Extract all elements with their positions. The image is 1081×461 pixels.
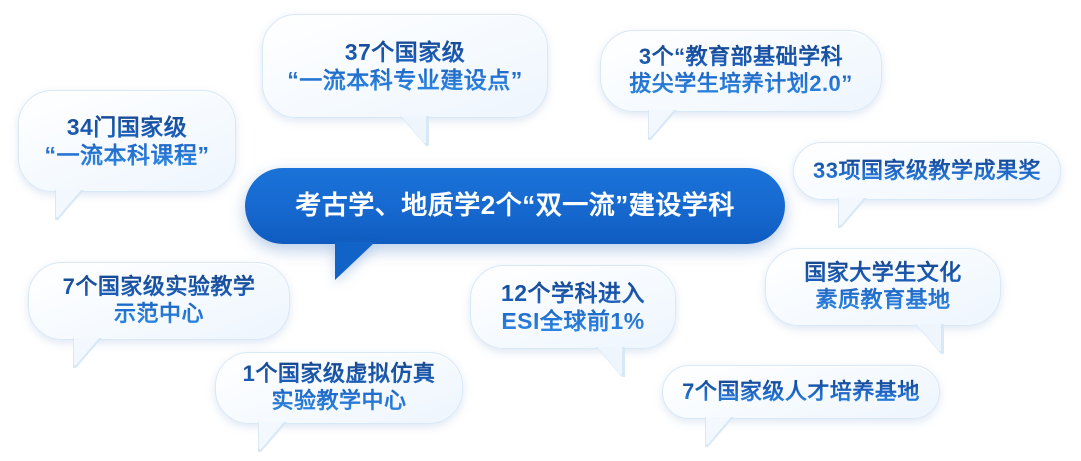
bubble-tail-esi-fill: [597, 347, 622, 374]
hero-label: 考古学、地质学2个“双一流”建设学科: [245, 190, 785, 222]
bubble-label: 国家大学生文化 素质教育基地: [766, 260, 1000, 314]
bubble-first-class-majors[interactable]: 37个国家级 “一流本科专业建设点”: [262, 14, 548, 118]
bubble-tail-majors-fill: [401, 116, 426, 143]
bubble-virtual-simulation-center[interactable]: 1个国家级虚拟仿真 实验教学中心: [215, 352, 463, 424]
bubble-label: 3个“教育部基础学科 拔尖学生培养计划2.0”: [601, 44, 881, 98]
bubble-label: 7个国家级人才培养基地: [663, 379, 939, 406]
bubble-teaching-achievement-awards[interactable]: 33项国家级教学成果奖: [793, 142, 1061, 200]
bubble-tail-talent-fill: [706, 417, 731, 444]
infographic-canvas: 34门国家级 “一流本科课程” 37个国家级 “一流本科专业建设点” 3个“教育…: [0, 0, 1081, 461]
bubble-experimental-teaching-centers[interactable]: 7个国家级实验教学 示范中心: [28, 262, 290, 340]
bubble-tail-program-fill: [649, 110, 674, 137]
bubble-talent-training-bases[interactable]: 7个国家级人才培养基地: [662, 365, 940, 419]
bubble-tail-hero: [335, 242, 375, 280]
bubble-label: 7个国家级实验教学 示范中心: [29, 274, 289, 328]
bubble-tail-lab-fill: [74, 338, 99, 365]
bubble-tail-virtual-fill: [259, 422, 284, 449]
bubble-tail-culture-fill: [916, 324, 941, 351]
bubble-national-first-class-courses[interactable]: 34门国家级 “一流本科课程”: [18, 90, 236, 192]
bubble-tail-courses-fill: [56, 190, 81, 217]
bubble-label: 37个国家级 “一流本科专业建设点”: [263, 38, 547, 94]
bubble-label: 1个国家级虚拟仿真 实验教学中心: [216, 361, 462, 415]
bubble-label: 34门国家级 “一流本科课程”: [19, 113, 235, 169]
bubble-top-notch-student-program[interactable]: 3个“教育部基础学科 拔尖学生培养计划2.0”: [600, 30, 882, 112]
bubble-tail-awards-fill: [839, 198, 864, 225]
bubble-cultural-quality-education-base[interactable]: 国家大学生文化 素质教育基地: [765, 248, 1001, 326]
bubble-label: 12个学科进入 ESI全球前1%: [471, 279, 675, 335]
bubble-label: 33项国家级教学成果奖: [794, 158, 1060, 185]
bubble-double-first-class-disciplines[interactable]: 考古学、地质学2个“双一流”建设学科: [245, 168, 785, 244]
bubble-esi-top-one-percent[interactable]: 12个学科进入 ESI全球前1%: [470, 265, 676, 349]
